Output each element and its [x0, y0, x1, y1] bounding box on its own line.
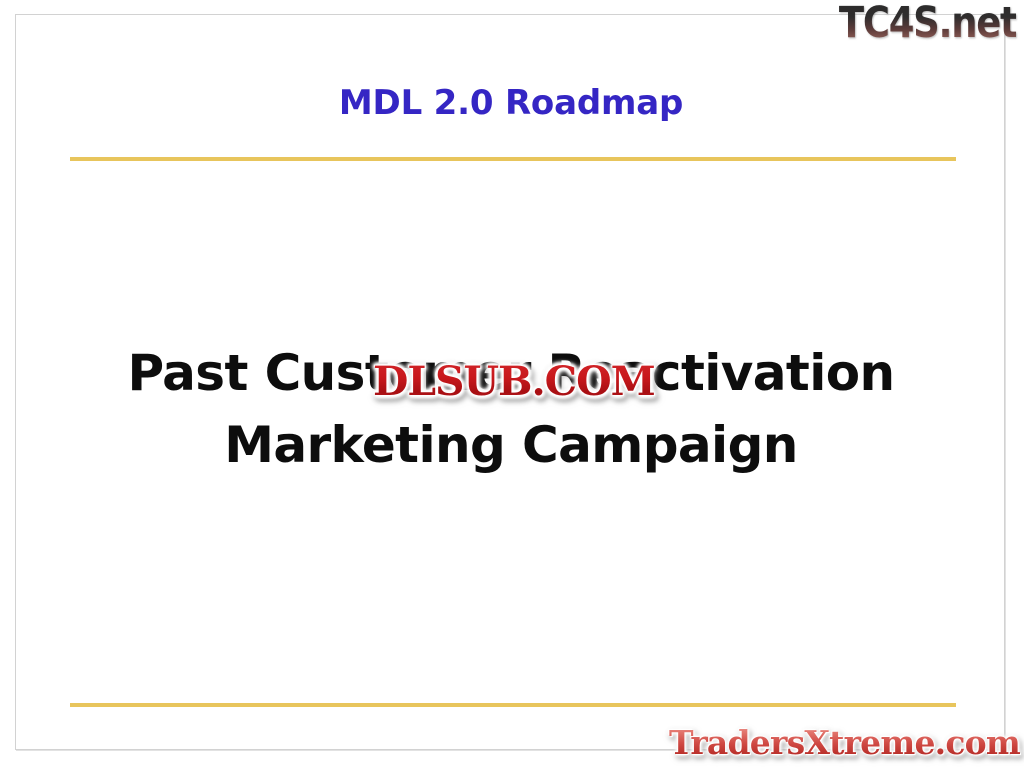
watermark-tc4s: TC4S.net: [838, 0, 1016, 48]
watermark-dlsub: DLSUB.COM: [373, 358, 655, 405]
slide-title: MDL 2.0 Roadmap: [16, 83, 1006, 123]
slide-viewer: MDL 2.0 Roadmap Past Customer Reactivati…: [0, 0, 1024, 768]
divider-top: [70, 157, 956, 161]
body-line-2: Marketing Campaign: [16, 409, 1006, 481]
divider-bottom: [70, 703, 956, 707]
watermark-tradersxtreme: TradersXtreme.com: [669, 723, 1020, 762]
